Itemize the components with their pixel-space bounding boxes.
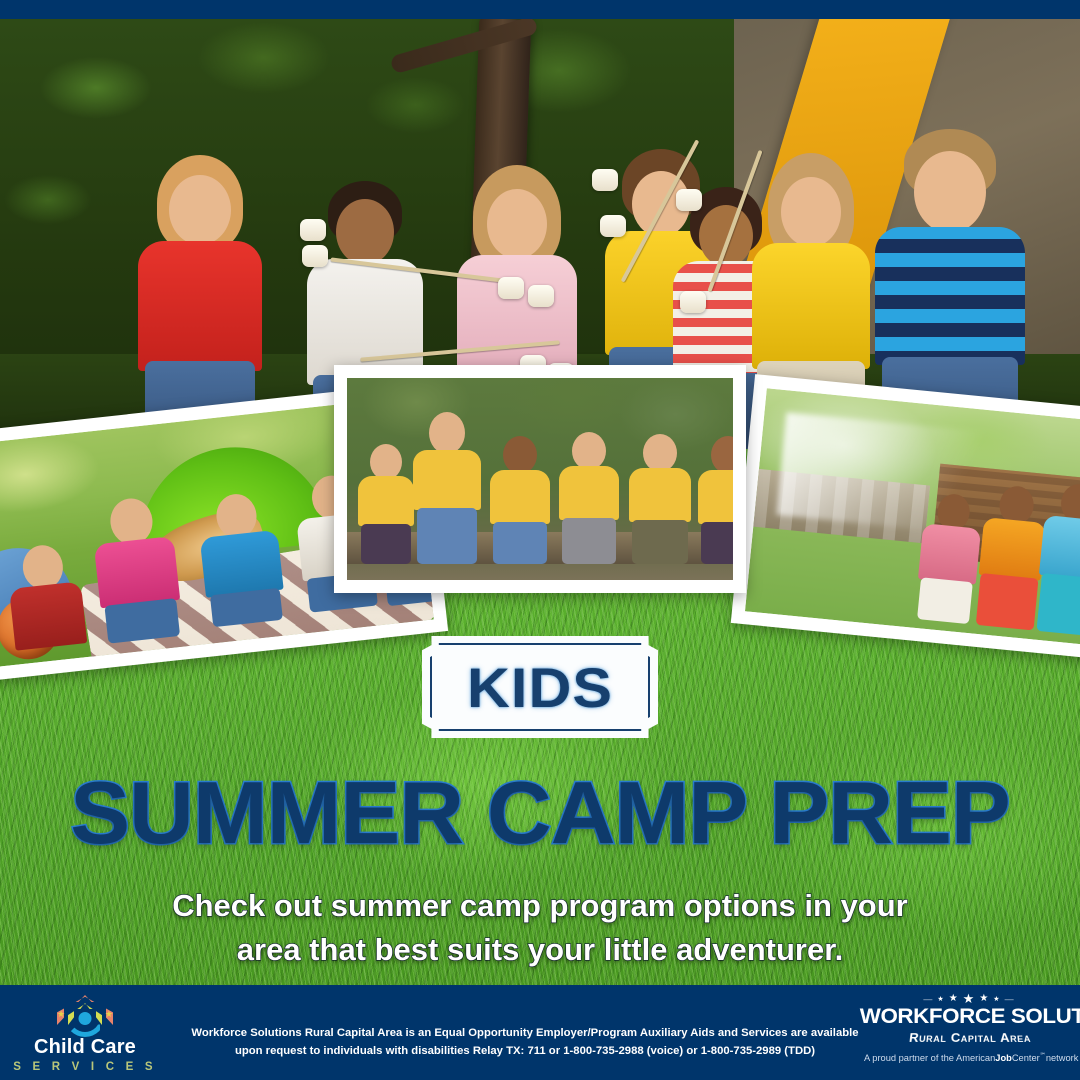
legs <box>417 508 477 564</box>
footer-bar: ★ ★ Child Care S E R V I C E S Workforce… <box>0 985 1080 1080</box>
camp-group-scene <box>347 378 733 580</box>
torso <box>698 470 733 524</box>
torso <box>200 530 284 598</box>
child-blue-shirt <box>188 489 293 626</box>
partner-suffix: Center <box>1012 1053 1040 1063</box>
plaque-shape: KIDS <box>422 636 658 738</box>
kids-plaque: KIDS <box>422 636 658 738</box>
disclaimer-line-1: Workforce Solutions Rural Capital Area i… <box>175 1025 875 1043</box>
dash-left: — <box>923 994 935 1004</box>
partner-tail: network <box>1046 1053 1079 1063</box>
legs <box>917 577 973 624</box>
torso <box>752 243 870 369</box>
marshmallow <box>300 219 326 241</box>
camper-1 <box>355 444 417 562</box>
torso <box>875 227 1025 365</box>
workforce-solutions-logo: — ★ ★ ★ ★ ★ — WORKFORCE SOLUTIONS Rural … <box>864 991 1076 1063</box>
child-pink-shirt <box>82 493 191 642</box>
star-icon: ★ <box>979 993 991 1004</box>
star-left-icon: ★ <box>57 1009 65 1020</box>
head <box>643 434 677 472</box>
camper-2 <box>486 436 554 562</box>
care-arc <box>65 1015 105 1037</box>
photo-image <box>347 378 733 580</box>
subtitle-line-2: area that best suits your little adventu… <box>60 928 1020 972</box>
page-title: SUMMER CAMP PREP <box>0 762 1080 864</box>
partner-prefix: A proud partner of the American <box>864 1053 995 1063</box>
photo-image <box>745 388 1080 647</box>
head <box>336 199 394 265</box>
head <box>914 151 986 233</box>
collage-photo-camp-group <box>334 365 746 593</box>
water-play-scene <box>745 388 1080 647</box>
dash-right: — <box>1005 994 1017 1004</box>
child-care-subtitle: S E R V I C E S <box>10 1061 160 1073</box>
torso <box>9 581 87 650</box>
star-icon: ★ <box>937 995 946 1003</box>
marshmallow <box>676 189 702 211</box>
legs <box>632 520 688 564</box>
torso <box>629 468 691 522</box>
page-subtitle: Check out summer camp program options in… <box>60 884 1020 972</box>
child-red-shirt <box>0 540 95 661</box>
camp-counselor <box>409 412 485 562</box>
legs <box>562 518 616 564</box>
poster-canvas: KIDS SUMMER CAMP PREP Check out summer c… <box>0 0 1080 1080</box>
head <box>370 444 402 480</box>
workforce-region: Rural Capital Area <box>862 1030 1077 1045</box>
torso <box>917 523 980 584</box>
torso <box>490 470 550 524</box>
head <box>169 175 231 245</box>
collage-photo-water-play <box>731 374 1080 662</box>
star-icon: ★ <box>949 993 961 1004</box>
legs <box>701 522 733 564</box>
legs <box>361 524 411 564</box>
camper-4 <box>694 436 733 562</box>
marshmallow <box>302 245 328 267</box>
house-roof-care-icon: ★ ★ <box>53 993 117 1033</box>
american-job-center-partner-line: A proud partner of the AmericanJobCenter… <box>864 1052 1076 1063</box>
equal-opportunity-disclaimer: Workforce Solutions Rural Capital Area i… <box>175 1025 875 1060</box>
star-right-icon: ★ <box>105 1009 113 1020</box>
torso <box>138 241 262 371</box>
subtitle-line-1: Check out summer camp program options in… <box>60 884 1020 928</box>
legs <box>104 598 180 644</box>
marshmallow <box>592 169 618 191</box>
disclaimer-line-2: upon request to individuals with disabil… <box>175 1043 875 1061</box>
camper-3 <box>555 432 623 562</box>
legs <box>493 522 547 564</box>
head <box>429 412 465 454</box>
torso <box>1039 515 1080 581</box>
torso <box>559 466 619 520</box>
head <box>781 177 841 247</box>
marshmallow <box>498 277 524 299</box>
star-icon: ★ <box>993 995 1002 1003</box>
head <box>487 189 547 259</box>
torso <box>93 536 179 608</box>
workforce-name: WORKFORCE SOLUTIONS <box>860 1006 1080 1028</box>
marshmallow <box>600 215 626 237</box>
top-accent-bar <box>0 0 1080 19</box>
head <box>572 432 606 470</box>
torso <box>358 476 414 526</box>
plaque-label: KIDS <box>415 636 665 738</box>
legs <box>1037 573 1080 636</box>
camper-hat <box>625 434 695 562</box>
child-care-title: Child Care <box>10 1037 160 1057</box>
torso <box>413 450 481 510</box>
head <box>711 436 733 474</box>
marshmallow <box>680 291 706 313</box>
head <box>503 436 537 474</box>
marshmallow <box>528 285 554 307</box>
child-care-services-logo: ★ ★ Child Care S E R V I C E S <box>10 993 160 1073</box>
partner-bold: Job <box>995 1053 1012 1063</box>
